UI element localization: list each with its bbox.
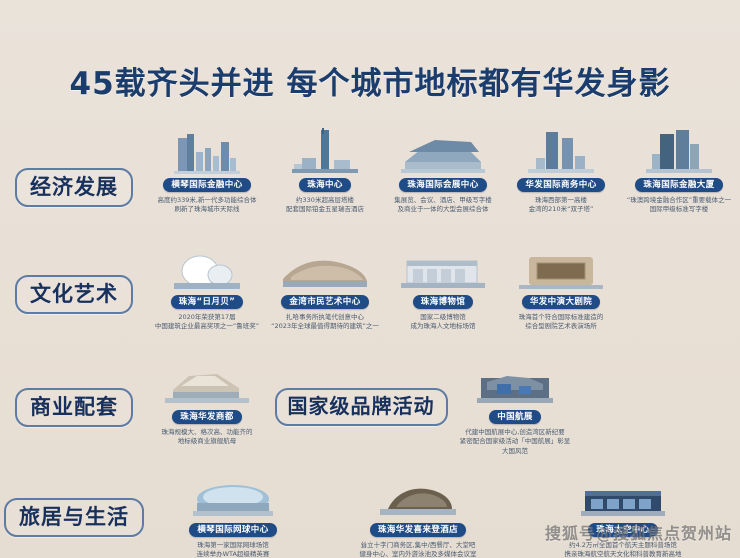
item-description: “珠澳跨境金融合作区”重要载体之一 国际甲级标准写字楼 [621,196,737,215]
item-description: 约330米超高层塔楼 配套国际铂金五星瑞吉酒店 [267,196,383,215]
item-card[interactable]: 中国航展 代建中国航展中心,创造湾区新纪要 紧密配合国家级活动「中国航展」彰显大… [456,360,574,456]
item-description: 珠海规模大、格次高、功能齐的 地标级商业旗舰航母 [149,428,265,447]
theatre-icon [513,245,609,291]
category-slot: 经济发展 [0,128,148,207]
item-description: 集展览、会议、酒店、甲级写字楼 及商业于一体的大型会展综合体 [385,196,501,215]
item-card[interactable]: 珠海博物馆 国家二级博物馆 成为珠海人文地标场馆 [384,245,502,332]
item-card[interactable]: 珠海华发喜来登酒店 耸立十字门商务区,集中/西餐厅、大堂吧 健身中心、室内外游泳… [318,473,518,558]
item-badge: 珠海华发喜来登酒店 [370,523,466,537]
item-card[interactable]: 珠海华发商都 珠海规模大、格次高、功能齐的 地标级商业旗舰航母 [148,360,266,447]
item-badge: 珠海国际金融大厦 [635,178,722,192]
title-container: 45载齐头并进 每个城市地标都有华发身影 [0,58,740,103]
item-list-commercial: 珠海华发商都 珠海规模大、格次高、功能齐的 地标级商业旗舰航母 国家级品牌活动 … [148,360,740,456]
item-description: 扎哈事务所执笔代创意中心 “2023年全球最值得期待的建筑”之一 [267,313,383,332]
wave-art-center-icon [277,245,373,291]
watermark-text: 搜狐号@搜狐焦点贺州站 [545,520,732,544]
category-row-economic: 经济发展 横琴国际金融中心 高度约339米, [0,128,740,236]
item-badge: 珠海华发商都 [172,410,241,424]
item-list-economic: 横琴国际金融中心 高度约339米,新一代多功能综合体 刷新了珠海城市天际线 珠海… [148,128,740,215]
item-badge: 中国航展 [489,410,541,424]
mall-icon [159,360,255,406]
item-description: 耸立十字门商务区,集中/西餐厅、大堂吧 健身中心、室内外游泳池及多媒体会议室 [320,541,516,558]
twin-towers-icon [522,128,600,174]
hotel-icon [370,473,466,519]
item-card[interactable]: 华发中演大剧院 珠海首个符合国际标准建造的 综合型剧院艺术表演场所 [502,245,620,332]
category-slot: 商业配套 [0,360,148,427]
item-description: 2020年荣获第17届 中国建筑企业最高奖项之一“鲁班奖” [149,313,265,332]
item-description: 珠海第一家国际网球场馆 连续举办WTA超级精英赛 激扬筑国际网球潮流 [149,541,317,558]
item-description: 代建中国航展中心,创造湾区新纪要 紧密配合国家级活动「中国航展」彰显大国风范 [457,428,573,456]
item-card[interactable]: 金湾市民艺术中心 扎哈事务所执笔代创意中心 “2023年全球最值得期待的建筑”之… [266,245,384,332]
item-description: 国家二级博物馆 成为珠海人文地标场馆 [385,313,501,332]
item-badge: 金湾市民艺术中心 [281,295,368,309]
poster-root: 45载齐头并进 每个城市地标都有华发身影 经济发展 [0,0,740,558]
category-slot: 旅居与生活 [0,473,148,537]
single-tower-icon [286,128,364,174]
item-badge: 珠海中心 [299,178,351,192]
item-list-living: 横琴国际网球中心 珠海第一家国际网球场馆 连续举办WTA超级精英赛 激扬筑国际网… [148,473,740,558]
category-row-living: 旅居与生活 横琴国际网球中心 珠海第一家国际网球场馆 连续举办WTA超级精英赛 … [0,473,740,558]
item-card[interactable]: 横琴国际金融中心 高度约339米,新一代多功能综合体 刷新了珠海城市天际线 [148,128,266,215]
item-badge: 横琴国际金融中心 [163,178,250,192]
item-badge: 华发中演大剧院 [522,295,600,309]
item-badge: 珠海国际会展中心 [399,178,486,192]
category-label-commercial[interactable]: 商业配套 [15,388,133,427]
item-description: 珠海西部第一高楼 金湾的210米“双子塔” [503,196,619,215]
page-title: 45载齐头并进 每个城市地标都有华发身影 [70,58,671,103]
finance-tower-icon [640,128,718,174]
category-label-economic[interactable]: 经济发展 [15,168,133,207]
item-card[interactable]: 珠海国际金融大厦 “珠澳跨境金融合作区”重要载体之一 国际甲级标准写字楼 [620,128,738,215]
item-badge: 珠海“日月贝” [171,295,243,309]
category-row-culture: 文化艺术 珠海“日月贝” 2020年荣获第17届 中国建筑企业最高奖项之一“鲁班… [0,245,740,345]
item-card[interactable]: 横琴国际网球中心 珠海第一家国际网球场馆 连续举办WTA超级精英赛 激扬筑国际网… [148,473,318,558]
category-row-commercial: 商业配套 珠海华发商都 珠海规模大、格次高、功能齐的 地标级商业旗舰航母 国家级… [0,360,740,460]
item-badge: 横琴国际网球中心 [189,523,276,537]
category-slot: 文化艺术 [0,245,148,314]
shell-opera-house-icon [168,245,246,291]
item-card[interactable]: 华发国际商务中心 珠海西部第一高楼 金湾的210米“双子塔” [502,128,620,215]
expo-hall-icon [395,128,491,174]
tennis-center-icon [185,473,281,519]
subcategory-slot: 国家级品牌活动 [266,360,456,426]
item-description: 高度约339米,新一代多功能综合体 刷新了珠海城市天际线 [149,196,265,215]
item-list-culture: 珠海“日月贝” 2020年荣获第17届 中国建筑企业最高奖项之一“鲁班奖” 金湾… [148,245,740,332]
space-center-icon [575,473,671,519]
museum-icon [395,245,491,291]
airshow-icon [467,360,563,406]
item-badge: 珠海博物馆 [413,295,474,309]
category-label-living[interactable]: 旅居与生活 [4,498,144,537]
category-label-national-events[interactable]: 国家级品牌活动 [275,388,448,426]
category-label-culture[interactable]: 文化艺术 [15,275,133,314]
item-description: 珠海首个符合国际标准建造的 综合型剧院艺术表演场所 [503,313,619,332]
item-card[interactable]: 珠海“日月贝” 2020年荣获第17届 中国建筑企业最高奖项之一“鲁班奖” [148,245,266,332]
skyline-towers-icon [168,128,246,174]
item-card[interactable]: 珠海太空中心 约4.2万㎡全国首个航天主题科普场馆 携亲珠海航空航天文化和科普教… [518,473,728,558]
item-badge: 华发国际商务中心 [517,178,604,192]
item-card[interactable]: 珠海中心 约330米超高层塔楼 配套国际铂金五星瑞吉酒店 [266,128,384,215]
item-card[interactable]: 珠海国际会展中心 集展览、会议、酒店、甲级写字楼 及商业于一体的大型会展综合体 [384,128,502,215]
